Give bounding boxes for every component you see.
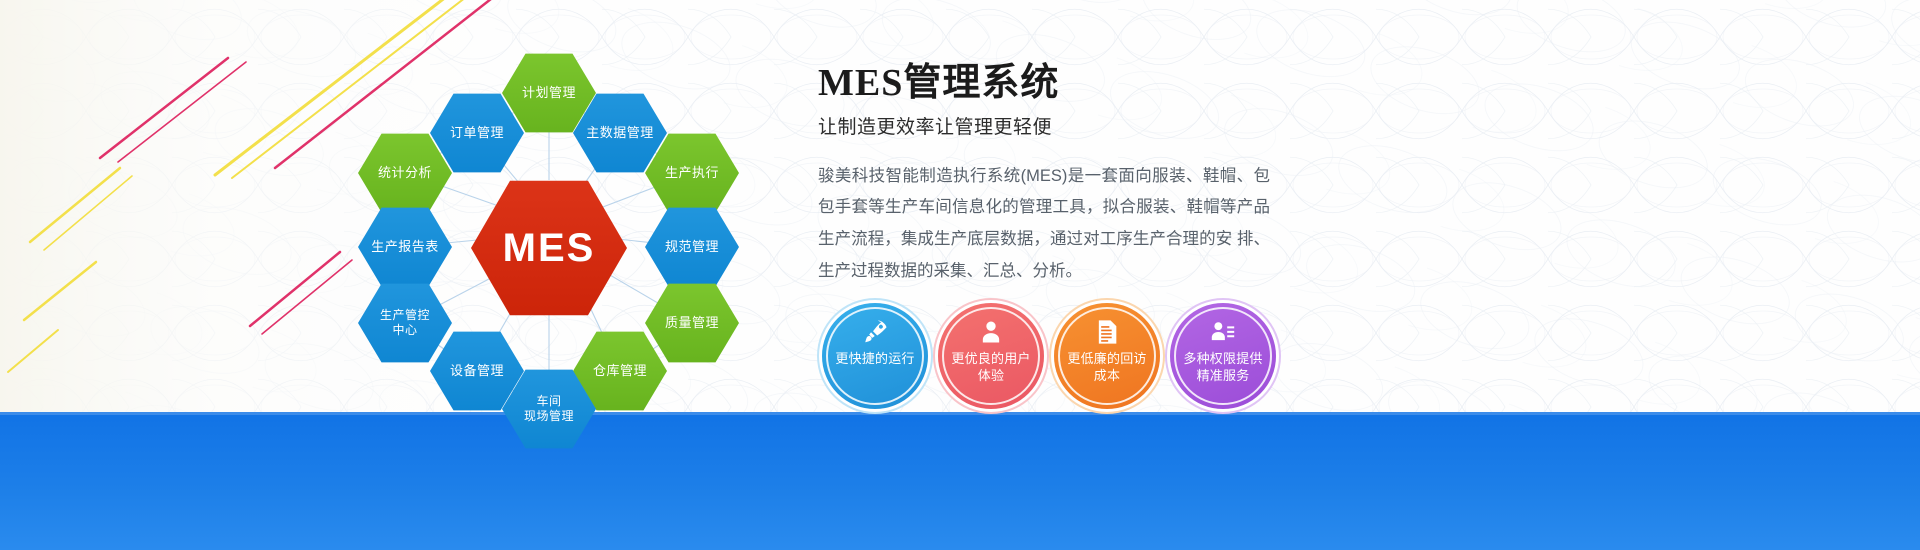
hex-label: 设备管理 — [450, 363, 504, 379]
feature-badge-label: 更低廉的回访成本 — [1054, 350, 1160, 384]
feature-badge-label: 多种权限提供精准服务 — [1170, 350, 1276, 384]
hex-label: 统计分析 — [378, 165, 432, 181]
feature-badge-lower-revisit-cost[interactable]: 更低廉的回访成本 — [1054, 303, 1160, 409]
feature-badge-label: 更快捷的运行 — [826, 350, 923, 367]
feature-badge-better-user-experience[interactable]: 更优良的用户体验 — [938, 303, 1044, 409]
hex-label: 质量管理 — [665, 315, 719, 331]
hex-label: 计划管理 — [522, 85, 576, 101]
hex-label: 主数据管理 — [586, 125, 654, 141]
feature-badge-multi-permission-precise-service[interactable]: 多种权限提供精准服务 — [1170, 303, 1276, 409]
hex-label: 生产执行 — [665, 165, 719, 181]
feature-badge-label: 更优良的用户体验 — [938, 350, 1044, 384]
hex-label: 仓库管理 — [593, 363, 647, 379]
content-column: MES管理系统 让制造更效率让管理更轻便 骏美科技智能制造执行系统(MES)是一… — [818, 62, 1288, 287]
bottom-blue-band — [0, 412, 1920, 550]
rocket-icon — [860, 317, 890, 347]
hex-label: 生产管控 中心 — [380, 308, 430, 338]
hex-label: 生产报告表 — [371, 239, 439, 255]
page-title: MES管理系统 — [818, 62, 1288, 106]
user-icon — [976, 317, 1006, 347]
document-icon — [1092, 317, 1122, 347]
permissions-icon — [1208, 317, 1238, 347]
hex-core-label: MES — [503, 223, 596, 273]
feature-badge-faster-operation[interactable]: 更快捷的运行 — [822, 303, 928, 409]
hex-label: 车间 现场管理 — [524, 394, 574, 424]
description-paragraph: 骏美科技智能制造执行系统(MES)是一套面向服装、鞋帽、包包手套等生产车间信息化… — [818, 161, 1270, 288]
hex-label: 订单管理 — [450, 125, 504, 141]
page-subtitle: 让制造更效率让管理更轻便 — [818, 112, 1288, 139]
mes-hexagon-diagram: 计划管理 订单管理 主数据管理 统计分析 生产执行 生产报告表 规范管理 生产管… — [330, 20, 800, 440]
feature-badge-list: 更快捷的运行 更优良的用户体验 更低廉的回访成本 多种权限提供精准服务 — [822, 303, 1276, 409]
mes-banner: 计划管理 订单管理 主数据管理 统计分析 生产执行 生产报告表 规范管理 生产管… — [0, 0, 1920, 550]
hex-label: 规范管理 — [665, 239, 719, 255]
